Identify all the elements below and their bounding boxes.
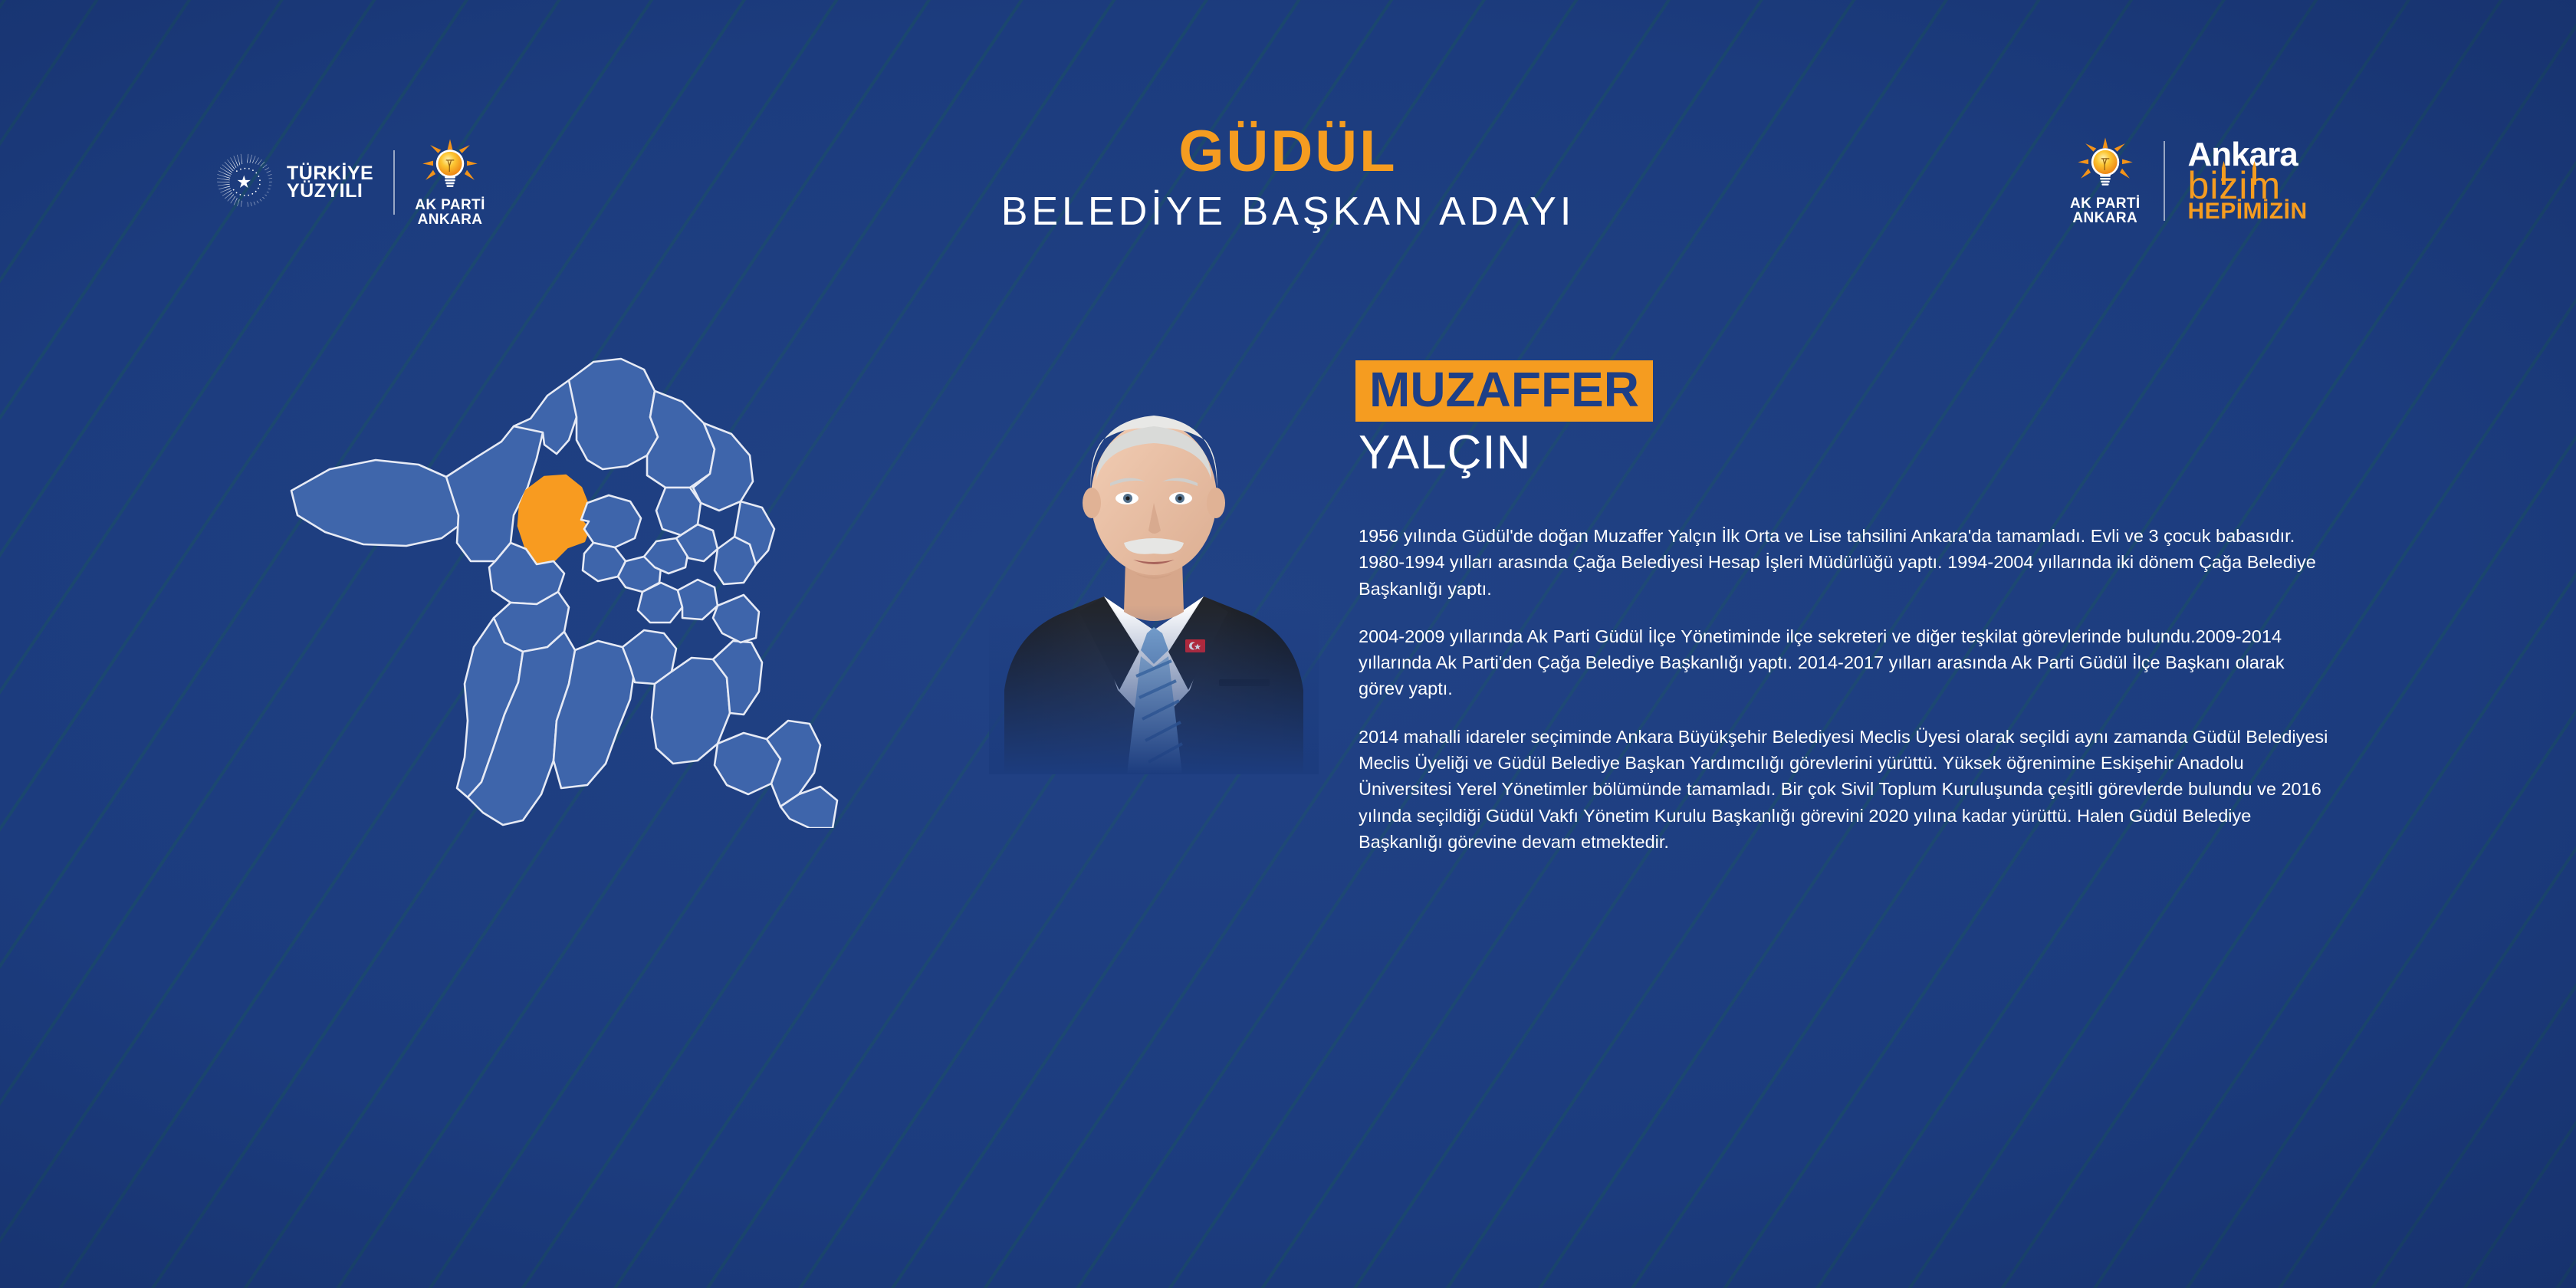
district-mamak [678, 580, 718, 619]
candidate-first-name: MUZAFFER [1369, 362, 1639, 417]
bio-paragraph-1: 1956 yılında Güdül'de doğan Muzaffer Yal… [1359, 523, 2332, 602]
candidate-last-name: YALÇIN [1359, 429, 1531, 477]
bio-paragraph-3: 2014 mahalli idareler seçiminde Ankara B… [1359, 724, 2332, 855]
district-cubuk [647, 391, 715, 488]
role-subtitle: BELEDİYE BAŞKAN ADAYI [0, 192, 2576, 232]
district-title: GÜDÜL [0, 123, 2576, 181]
bio-paragraph-2: 2004-2009 yıllarında Ak Parti Güdül İlçe… [1359, 623, 2332, 702]
poster-canvas: TÜRKİYE YÜZYILI [0, 0, 2576, 1288]
district-kahramankazan [581, 495, 641, 547]
district-nallihan [291, 460, 462, 546]
district-kizilcahamam [569, 359, 658, 469]
candidate-portrait [989, 330, 1319, 774]
candidate-biography: 1956 yılında Güdül'de doğan Muzaffer Yal… [1359, 523, 2332, 855]
ankara-province-map [284, 337, 928, 828]
candidate-first-name-badge: MUZAFFER [1355, 360, 1653, 422]
poster-title-block: GÜDÜL BELEDİYE BAŞKAN ADAYI [0, 123, 2576, 232]
district-elmadag-south [713, 595, 759, 642]
district-gudul-highlighted [518, 475, 589, 564]
